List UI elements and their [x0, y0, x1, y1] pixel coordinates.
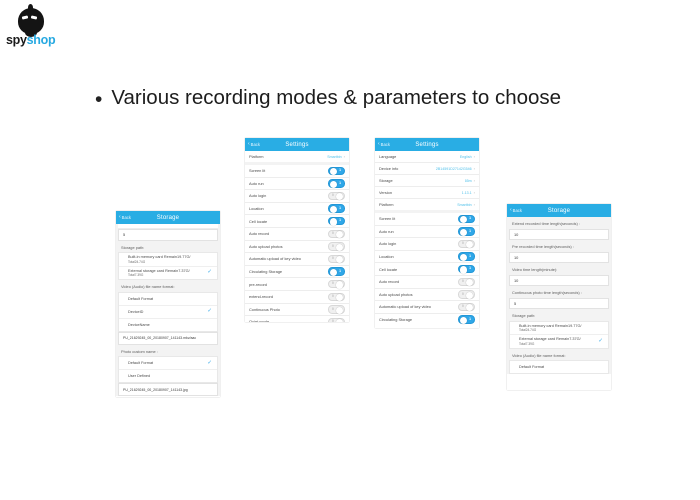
panel2-toggle-group: Screen lit1Auto run1Auto login0Location1… — [245, 165, 349, 322]
toggle-knob — [460, 216, 467, 223]
toggle-knob — [466, 279, 473, 286]
toggle-row[interactable]: Auto run1 — [375, 226, 479, 239]
list-item[interactable]: External storage card Remain7.37G/ Total… — [119, 267, 217, 280]
photo-custom-label: Photo custom name : — [116, 345, 220, 357]
toggle-state-text: 0 — [332, 295, 334, 298]
panel2-title: Settings — [245, 142, 349, 148]
toggle-knob — [460, 266, 467, 273]
toggle-knob — [330, 269, 337, 276]
back-label: Back — [251, 142, 260, 147]
toggle-label: Auto login — [249, 193, 266, 198]
toggle-state-text: 0 — [332, 232, 334, 235]
toggle-row[interactable]: Cell locate1 — [245, 215, 349, 228]
toggle-switch[interactable]: 0 — [328, 293, 345, 301]
link-label: Platform — [379, 202, 394, 207]
storage-path-list: Built-in memory card Remain19.77G/ Total… — [118, 252, 218, 280]
chevron-left-icon: ‹ — [119, 215, 121, 220]
toggle-label: Auto record — [249, 231, 269, 236]
toggle-knob — [330, 168, 337, 175]
toggle-row[interactable]: Quiet mode0 — [245, 316, 349, 322]
toggle-row[interactable]: Auto upload photos0 — [245, 241, 349, 254]
toggle-state-text: 0 — [332, 257, 334, 260]
storage-path-list: Built-in memory card Remain19.77G/ Total… — [509, 321, 609, 349]
panel3-body: LanguageEnglish›Device info2B14591D27142… — [375, 151, 479, 325]
settings-link-row[interactable]: Storage65m› — [375, 175, 479, 187]
toggle-state-text: 0 — [462, 242, 464, 245]
field-label: Pre recorded time length(seconds) : — [507, 240, 611, 252]
toggle-switch[interactable]: 0 — [328, 255, 345, 263]
toggle-knob — [330, 181, 337, 188]
toggle-row[interactable]: Circulating Storage1 — [375, 314, 479, 326]
toggle-state-text: 0 — [462, 293, 464, 296]
toggle-label: Auto run — [379, 229, 394, 234]
storage-path-sub: Total7.39G — [128, 273, 190, 277]
field-label: Continuous photo time length(seconds) : — [507, 286, 611, 298]
panel1-title: Storage — [116, 215, 220, 221]
toggle-row[interactable]: Auto record0 — [245, 228, 349, 241]
screenshot-settings-toggles: ‹ Back Settings Platform Smartbin › Scre… — [245, 138, 349, 322]
chevron-right-icon: › — [474, 167, 475, 171]
toggle-switch[interactable]: 1 — [328, 167, 345, 175]
list-item[interactable]: External storage card Remain7.37G/ Total… — [510, 335, 608, 348]
slide-title-row: • Various recording modes & parameters t… — [95, 86, 615, 110]
back-button[interactable]: ‹ Back — [510, 208, 522, 213]
toggle-state-text: 1 — [469, 255, 471, 258]
toggle-row[interactable]: Automatic upload of key video0 — [245, 253, 349, 266]
screenshot-storage-filenames: ‹ Back Storage 5 Storage path: Built-in … — [116, 211, 220, 397]
toggle-switch[interactable]: 1 — [328, 204, 345, 212]
panel3-toggle-group: Screen lit1Auto run1Auto login0Location1… — [375, 213, 479, 325]
toggle-label: Automatic upload of key video — [249, 256, 301, 261]
panel4-header: ‹ Back Storage — [507, 204, 611, 217]
settings-link-row[interactable]: Device info2B14591D27142G546› — [375, 163, 479, 175]
toggle-label: Location — [249, 206, 264, 211]
back-label: Back — [122, 215, 131, 220]
video-format-label: Video (Audio) file name format: — [116, 280, 220, 292]
list-item[interactable]: User Defined — [119, 370, 217, 382]
logo-wordmark: spyshop — [6, 34, 76, 47]
storage-path-label: Storage path: — [116, 241, 220, 253]
panel1-body: 5 Storage path: Built-in memory card Rem… — [116, 224, 220, 396]
toggle-row[interactable]: Auto upload photos0 — [375, 289, 479, 302]
panel4-fields: Extend recorded time length(seconds) :10… — [507, 217, 611, 309]
chevron-left-icon: ‹ — [248, 142, 250, 147]
toggle-switch[interactable]: 0 — [328, 305, 345, 313]
toggle-state-text: 1 — [339, 270, 341, 273]
toggle-row[interactable]: Auto record0 — [375, 276, 479, 289]
link-label: Language — [379, 154, 396, 159]
toggle-knob — [330, 218, 337, 225]
toggle-switch[interactable]: 0 — [458, 303, 475, 311]
toggle-label: Auto login — [379, 241, 396, 246]
toggle-switch[interactable]: 0 — [458, 240, 475, 248]
toggle-label: Auto upload photos — [379, 292, 413, 297]
back-label: Back — [381, 142, 390, 147]
toggle-row[interactable]: Circulating Storage1 — [245, 266, 349, 279]
toggle-knob — [466, 304, 473, 311]
screenshot-storage-params: ‹ Back Storage Extend recorded time leng… — [507, 204, 611, 390]
field-input[interactable]: 10 — [509, 229, 609, 241]
video-format-label: Video (Audio) file name format: — [507, 349, 611, 361]
toggle-row[interactable]: Auto run1 — [245, 178, 349, 191]
toggle-state-text: 0 — [462, 305, 464, 308]
toggle-label: Cell locate — [379, 267, 397, 272]
toggle-switch[interactable]: 0 — [328, 192, 345, 200]
toggle-row[interactable]: extend-record0 — [245, 291, 349, 304]
storage-path-sub: Total24.74G — [128, 260, 190, 264]
photo-format-list: Default Format ✓ User Defined — [118, 356, 218, 383]
toggle-switch[interactable]: 1 — [328, 217, 345, 225]
check-icon: ✓ — [207, 309, 212, 315]
toggle-state-text: 1 — [469, 230, 471, 233]
link-label: Device info — [379, 166, 398, 171]
toggle-switch[interactable]: 0 — [458, 278, 475, 286]
link-value: Smartbin — [327, 155, 341, 159]
panel4-title: Storage — [507, 208, 611, 214]
toggle-state-text: 0 — [332, 320, 334, 322]
toggle-row[interactable]: Location1 — [375, 251, 479, 264]
toggle-state-text: 1 — [469, 267, 471, 270]
toggle-knob — [336, 231, 343, 238]
toggle-knob — [336, 256, 343, 263]
toggle-state-text: 1 — [469, 217, 471, 220]
list-item[interactable]: Built-in memory card Remain19.77G/ Total… — [119, 253, 217, 267]
check-icon: ✓ — [598, 339, 603, 345]
field-input[interactable]: 10 — [509, 275, 609, 287]
toggle-state-text: 0 — [332, 245, 334, 248]
toggle-label: Auto upload photos — [249, 244, 283, 249]
toggle-label: Cell locate — [249, 219, 267, 224]
chevron-left-icon: ‹ — [378, 142, 380, 147]
storage-path-label: Storage path: — [507, 309, 611, 321]
toggle-row[interactable]: Location1 — [245, 203, 349, 216]
video-format-option: Default Format — [128, 297, 153, 302]
toggle-knob — [336, 307, 343, 314]
toggle-switch[interactable]: 1 — [458, 215, 475, 223]
back-label: Back — [513, 208, 522, 213]
chevron-right-icon: › — [474, 191, 475, 195]
back-button[interactable]: ‹ Back — [119, 215, 131, 220]
chevron-right-icon: › — [344, 155, 345, 159]
toggle-label: pre-record — [249, 282, 267, 287]
page-title: Various recording modes & parameters to … — [111, 86, 561, 110]
panel4-body: Extend recorded time length(seconds) :10… — [507, 217, 611, 374]
toggle-row[interactable]: Continuous Photo0 — [245, 304, 349, 317]
toggle-knob — [460, 254, 467, 261]
toggle-label: Auto run — [249, 181, 264, 186]
toggle-label: Quiet mode — [249, 319, 269, 322]
toggle-state-text: 0 — [332, 282, 334, 285]
toggle-switch[interactable]: 1 — [458, 315, 475, 323]
field-label: Extend recorded time length(seconds) : — [507, 217, 611, 229]
toggle-row[interactable]: Automatic upload of key video0 — [375, 301, 479, 314]
toggle-label: Screen lit — [249, 168, 265, 173]
toggle-row[interactable]: Screen lit1 — [245, 165, 349, 178]
toggle-row[interactable]: Auto login0 — [375, 238, 479, 251]
toggle-switch[interactable]: 1 — [458, 227, 475, 235]
list-item[interactable]: Default Format — [119, 293, 217, 306]
sidebar-item-platform[interactable]: Platform Smartbin › — [245, 151, 349, 162]
panel3-title: Settings — [375, 142, 479, 148]
video-filename-preview: PU_21629245_00_20180907_141143.mkv/aac — [118, 332, 218, 345]
toggle-state-text: 0 — [462, 280, 464, 283]
photo-filename-preview: PU_21629245_00_20180907_141143.jpg — [118, 383, 218, 396]
link-label: Platform — [249, 154, 264, 159]
logo-word-spy: spy — [6, 33, 27, 47]
link-value: English — [460, 155, 472, 159]
toggle-switch[interactable]: 1 — [458, 265, 475, 273]
toggle-knob — [336, 281, 343, 288]
toggle-state-text: 1 — [339, 182, 341, 185]
toggle-knob — [336, 193, 343, 200]
toggle-knob — [466, 292, 473, 299]
toggle-knob — [336, 244, 343, 251]
logo-word-shop: shop — [27, 33, 56, 47]
settings-link-row[interactable]: LanguageEnglish› — [375, 151, 479, 163]
photo-format-option: Default Format — [128, 361, 153, 366]
toggle-label: Auto record — [379, 279, 399, 284]
video-format-list: Default Format — [509, 360, 609, 374]
check-icon: ✓ — [207, 361, 212, 367]
spy-ninja-head-icon — [16, 4, 46, 36]
toggle-label: Continuous Photo — [249, 307, 280, 312]
list-item[interactable]: DeviceID ✓ — [119, 306, 217, 319]
toggle-switch[interactable]: 1 — [458, 252, 475, 260]
toggle-label: Circulating Storage — [249, 269, 282, 274]
list-item[interactable]: Default Format ✓ — [119, 357, 217, 370]
link-value: Smartbin — [457, 203, 471, 207]
screenshot-settings-info: ‹ Back Settings LanguageEnglish›Device i… — [375, 138, 479, 328]
check-icon: ✓ — [207, 270, 212, 276]
chevron-right-icon: › — [474, 203, 475, 207]
chevron-right-icon: › — [474, 179, 475, 183]
toggle-state-text: 1 — [339, 207, 341, 210]
field-label: Video time length(minute): — [507, 263, 611, 275]
toggle-row[interactable]: pre-record0 — [245, 278, 349, 291]
chevron-left-icon: ‹ — [510, 208, 512, 213]
toggle-label: extend-record — [249, 294, 273, 299]
toggle-state-text: 1 — [469, 318, 471, 321]
scrolled-value-field[interactable]: 5 — [118, 229, 218, 241]
toggle-switch[interactable]: 0 — [328, 230, 345, 238]
storage-path-sub: Total7.39G — [519, 342, 581, 346]
video-format-option: DeviceID — [128, 310, 143, 315]
toggle-state-text: 1 — [339, 169, 341, 172]
panel2-link-group: Platform Smartbin › — [245, 151, 349, 162]
toggle-label: Screen lit — [379, 216, 395, 221]
storage-path-sub: Total24.74G — [519, 328, 581, 332]
toggle-state-text: 0 — [332, 308, 334, 311]
link-value: 1.13.1 — [462, 191, 472, 195]
toggle-switch[interactable]: 1 — [328, 267, 345, 275]
photo-format-option: User Defined — [128, 374, 150, 379]
toggle-row[interactable]: Auto login0 — [245, 190, 349, 203]
link-label: Version — [379, 190, 392, 195]
list-item[interactable]: Default Format — [510, 361, 608, 373]
toggle-label: Automatic upload of key video — [379, 304, 431, 309]
toggle-knob — [460, 317, 467, 324]
storage-path-main: Built-in memory card Remain19.77G/ — [128, 255, 190, 259]
toggle-row[interactable]: Screen lit1 — [375, 213, 479, 226]
video-format-option: Default Format — [519, 365, 544, 370]
bullet-glyph: • — [95, 89, 102, 110]
toggle-state-text: 1 — [339, 219, 341, 222]
panel2-body: Platform Smartbin › Screen lit1Auto run1… — [245, 151, 349, 322]
toggle-knob — [460, 229, 467, 236]
toggle-switch[interactable]: 0 — [328, 318, 345, 322]
toggle-knob — [330, 206, 337, 213]
list-item[interactable]: DeviceName — [119, 319, 217, 331]
toggle-knob — [336, 294, 343, 301]
back-button[interactable]: ‹ Back — [378, 142, 390, 147]
video-format-list: Default Format DeviceID ✓ DeviceName — [118, 292, 218, 332]
storage-path-main: Built-in memory card Remain19.77G/ — [519, 324, 581, 328]
toggle-label: Circulating Storage — [379, 317, 412, 322]
toggle-switch[interactable]: 1 — [328, 179, 345, 187]
field-input[interactable]: 10 — [509, 252, 609, 264]
video-format-option: DeviceName — [128, 323, 150, 328]
back-button[interactable]: ‹ Back — [248, 142, 260, 147]
field-input[interactable]: 5 — [509, 298, 609, 310]
storage-path-main: External storage card Remain7.37G/ — [519, 337, 581, 341]
toggle-label: Location — [379, 254, 394, 259]
toggle-knob — [466, 241, 473, 248]
settings-link-row[interactable]: PlatformSmartbin› — [375, 199, 479, 210]
link-label: Storage — [379, 178, 393, 183]
brand-logo: spyshop — [6, 4, 76, 50]
link-value: 2B14591D27142G546 — [436, 167, 472, 171]
panel3-header: ‹ Back Settings — [375, 138, 479, 151]
panel2-header: ‹ Back Settings — [245, 138, 349, 151]
panel1-header: ‹ Back Storage — [116, 211, 220, 224]
toggle-row[interactable]: Cell locate1 — [375, 263, 479, 276]
list-item[interactable]: Built-in memory card Remain19.77G/ Total… — [510, 322, 608, 336]
storage-path-main: External storage card Remain7.37G/ — [128, 269, 190, 273]
toggle-knob — [336, 319, 343, 322]
toggle-switch[interactable]: 0 — [458, 290, 475, 298]
toggle-switch[interactable]: 0 — [328, 242, 345, 250]
settings-link-row[interactable]: Version1.13.1› — [375, 187, 479, 199]
toggle-state-text: 0 — [332, 194, 334, 197]
link-value: 65m — [465, 179, 472, 183]
chevron-right-icon: › — [474, 155, 475, 159]
panel3-link-group: LanguageEnglish›Device info2B14591D27142… — [375, 151, 479, 210]
toggle-switch[interactable]: 0 — [328, 280, 345, 288]
